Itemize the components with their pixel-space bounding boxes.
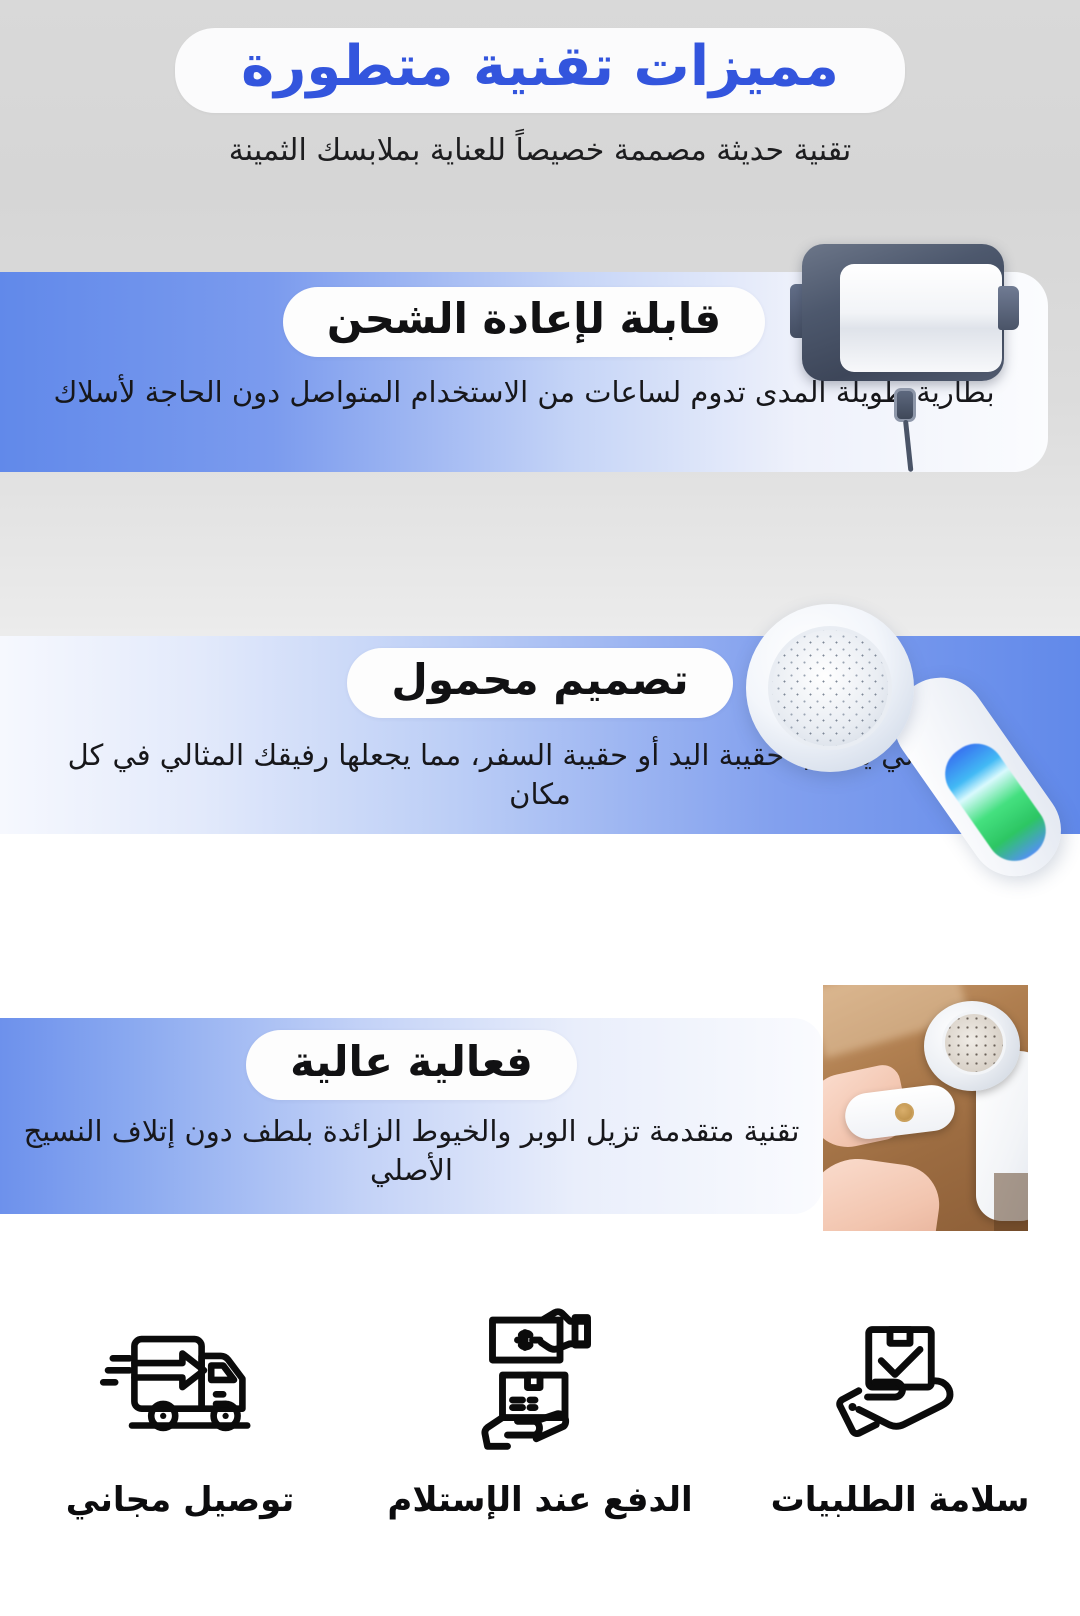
device-head-housing [746,604,914,772]
device-led-indicator [934,733,1057,872]
charging-battery-icon [784,238,1034,473]
trust-badge-order-safety: سلامة الطلبيات [735,1292,1065,1520]
trust-badge-label: توصيل مجاني [66,1480,295,1520]
page-subtitle: تقنية حديثة مصممة خصيصاً للعناية بملابسك… [35,131,1045,172]
title-pill: مميزات تقنية متطورة [175,28,905,113]
device-mesh-screen [942,1011,1006,1075]
lint-remover-device-image [716,590,1046,880]
lint-remover-in-use-photo [823,985,1028,1231]
charger-cable [903,420,913,472]
trust-badge-label: الدفع عند الإستلام [387,1480,692,1520]
trust-badge-free-shipping: توصيل مجاني [15,1292,345,1520]
battery-body [802,244,1004,381]
photo-shadow [994,1173,1028,1231]
page-header: مميزات تقنية متطورة تقنية حديثة مصممة خص… [0,0,1080,171]
infographic-page: مميزات تقنية متطورة تقنية حديثة مصممة خص… [0,0,1080,1616]
page-title: مميزات تقنية متطورة [241,38,839,97]
battery-terminal-right [998,286,1019,330]
supporting-hand [823,1152,944,1231]
package-check-hand-icon [810,1292,990,1462]
feature-badge-label: فعالية عالية [290,1037,533,1086]
power-button-icon [895,1103,914,1122]
battery-fill-level [840,264,1002,372]
trust-badge-cash-on-delivery: الدفع عند الإستلام [375,1292,705,1520]
feature-badge-portable: تصميم محمول [347,648,732,718]
feature-badge-rechargeable: قابلة لإعادة الشحن [283,287,765,357]
device-mesh-screen [768,626,892,750]
cash-on-delivery-icon [450,1292,630,1462]
feature-badge-label: قابلة لإعادة الشحن [327,294,721,343]
feature-description-efficiency: تقنية متقدمة تزيل الوبر والخيوط الزائدة … [8,1112,815,1190]
charger-plug-icon [894,388,916,422]
trust-badges-row: سلامة الطلبيات الدفع عند الإست [0,1292,1080,1520]
feature-card-efficiency: فعالية عالية تقنية متقدمة تزيل الوبر وال… [0,1018,823,1214]
delivery-truck-icon [90,1292,270,1462]
feature-badge-efficiency: فعالية عالية [246,1030,577,1100]
feature-badge-label: تصميم محمول [391,655,688,704]
trust-badge-label: سلامة الطلبيات [771,1480,1030,1520]
